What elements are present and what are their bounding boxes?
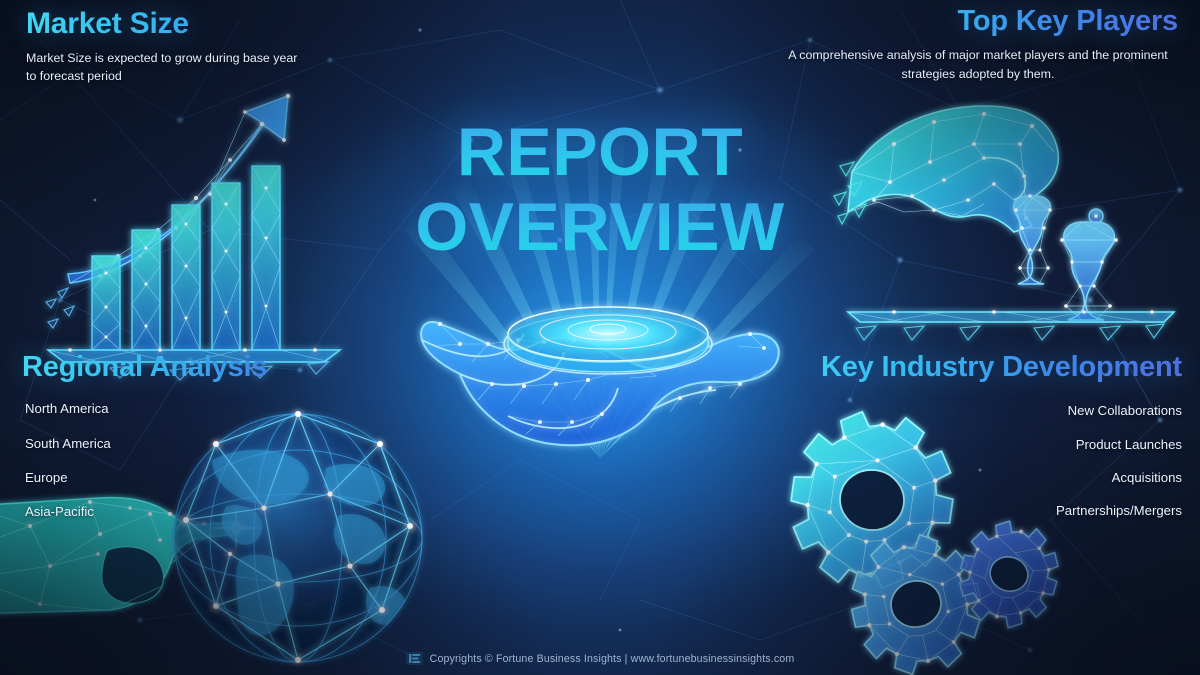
key-industry-development-block: Key Industry Development New Collaborati… — [762, 352, 1182, 537]
list-item: Europe — [22, 471, 362, 484]
fortune-business-insights-logo-icon — [406, 652, 423, 665]
list-item: Partnerships/Mergers — [762, 504, 1182, 517]
list-item: Acquisitions — [762, 471, 1182, 484]
list-item: North America — [22, 402, 362, 415]
list-item: Asia-Pacific — [22, 505, 362, 518]
report-title-line1: REPORT — [0, 118, 1200, 187]
market-size-heading: Market Size — [26, 8, 356, 40]
list-item: New Collaborations — [762, 404, 1182, 417]
key-industry-development-list: New Collaborations Product Launches Acqu… — [762, 404, 1182, 517]
market-size-subtitle: Market Size is expected to grow during b… — [26, 49, 298, 86]
top-key-players-heading: Top Key Players — [778, 6, 1178, 36]
background-vignette — [0, 0, 1200, 675]
regional-analysis-block: Regional Analysis North America South Am… — [22, 352, 362, 539]
copyright-text: Copyrights © Fortune Business Insights |… — [430, 653, 795, 665]
footer: Copyrights © Fortune Business Insights |… — [0, 652, 1200, 665]
page-title: REPORT OVERVIEW — [0, 118, 1200, 263]
regional-analysis-list: North America South America Europe Asia-… — [22, 402, 362, 518]
report-overview-infographic: Market Size Market Size is expected to g… — [0, 0, 1200, 675]
regional-analysis-heading: Regional Analysis — [22, 352, 362, 382]
list-item: Product Launches — [762, 438, 1182, 451]
top-key-players-subtitle: A comprehensive analysis of major market… — [778, 46, 1178, 83]
report-title-line2: OVERVIEW — [0, 193, 1200, 262]
key-industry-development-heading: Key Industry Development — [762, 352, 1182, 382]
market-size-block: Market Size Market Size is expected to g… — [26, 8, 356, 85]
list-item: South America — [22, 437, 362, 450]
top-key-players-block: Top Key Players A comprehensive analysis… — [778, 6, 1178, 83]
